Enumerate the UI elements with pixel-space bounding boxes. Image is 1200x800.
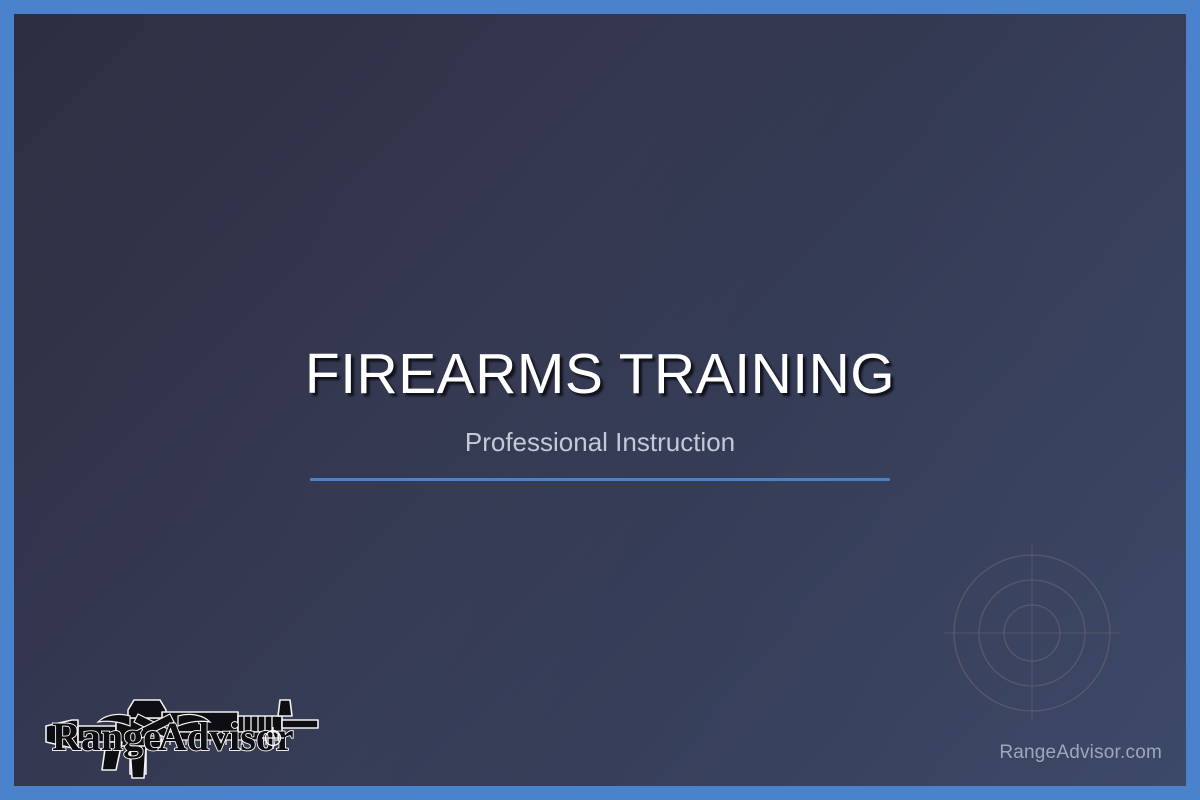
target-reticle-icon: [930, 531, 1134, 735]
site-url-footer: RangeAdvisor.com: [999, 742, 1162, 764]
page-subtitle: Professional Instruction: [14, 403, 1186, 455]
brand-logo: .lg-fill { fill:#0b0b10; stroke:#f2f2f2;…: [42, 686, 322, 780]
logo-wordmark: Range Advisor: [52, 714, 294, 759]
accent-divider: [310, 478, 890, 481]
presentation-slide: FIREARMS TRAINING Professional Instructi…: [0, 0, 1200, 800]
logo-word-range: Range: [52, 714, 161, 759]
page-title: FIREARMS TRAINING: [14, 346, 1186, 403]
title-block: FIREARMS TRAINING Professional Instructi…: [14, 346, 1186, 481]
